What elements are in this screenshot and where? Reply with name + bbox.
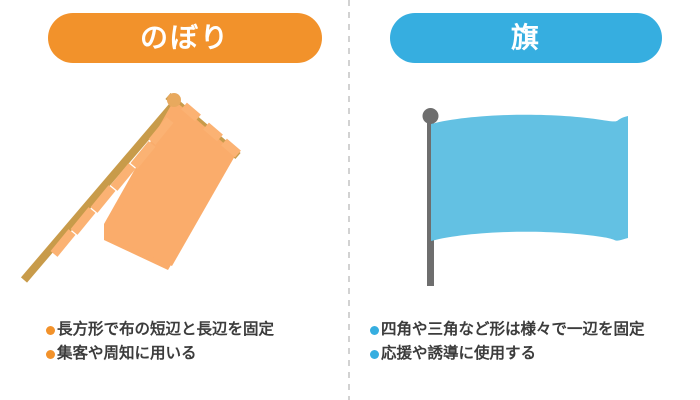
vertical-dashed-divider (348, 0, 350, 400)
heading-pill-nobori: のぼり (48, 13, 322, 63)
nobori-illustration (0, 80, 348, 305)
list-item: 応援や誘導に使用する (370, 342, 645, 366)
flag-illustration (352, 80, 700, 305)
comparison-figure: のぼり (0, 0, 700, 400)
heading-label-hata: 旗 (511, 24, 541, 52)
flag-pole-finial (423, 108, 439, 124)
heading-pill-hata: 旗 (390, 13, 662, 63)
flag-cloth (431, 115, 628, 241)
list-item: 長方形で布の短辺と長辺を固定 (46, 318, 274, 342)
bullet-label: 応援や誘導に使用する (381, 346, 536, 362)
list-item: 四角や三角など形は様々で一辺を固定 (370, 318, 645, 342)
bullet-dot-icon (46, 326, 55, 335)
bullet-list-hata: 四角や三角など形は様々で一辺を固定 応援や誘導に使用する (370, 318, 645, 366)
list-item: 集客や周知に用いる (46, 342, 274, 366)
bullet-label: 集客や周知に用いる (57, 346, 197, 362)
bullet-dot-icon (370, 350, 379, 359)
bullet-label: 長方形で布の短辺と長辺を固定 (57, 322, 274, 338)
bullet-dot-icon (46, 350, 55, 359)
bullet-dot-icon (370, 326, 379, 335)
bullet-list-nobori: 長方形で布の短辺と長辺を固定 集客や周知に用いる (46, 318, 274, 366)
heading-label-nobori: のぼり (140, 24, 230, 52)
bullet-label: 四角や三角など形は様々で一辺を固定 (381, 322, 645, 338)
